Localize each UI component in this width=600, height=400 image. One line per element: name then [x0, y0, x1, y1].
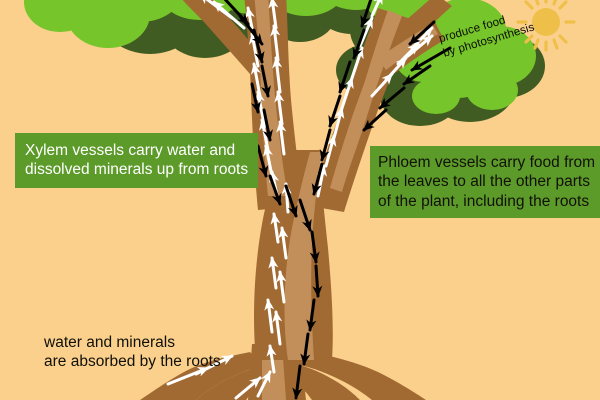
phloem-label: Phloem vessels carry food from the leave…	[370, 146, 600, 218]
diagram-canvas: Xylem vessels carry water and dissolved …	[0, 0, 600, 400]
xylem-label: Xylem vessels carry water and dissolved …	[15, 133, 258, 188]
roots-absorption-label: water and minerals are absorbed by the r…	[44, 333, 294, 372]
